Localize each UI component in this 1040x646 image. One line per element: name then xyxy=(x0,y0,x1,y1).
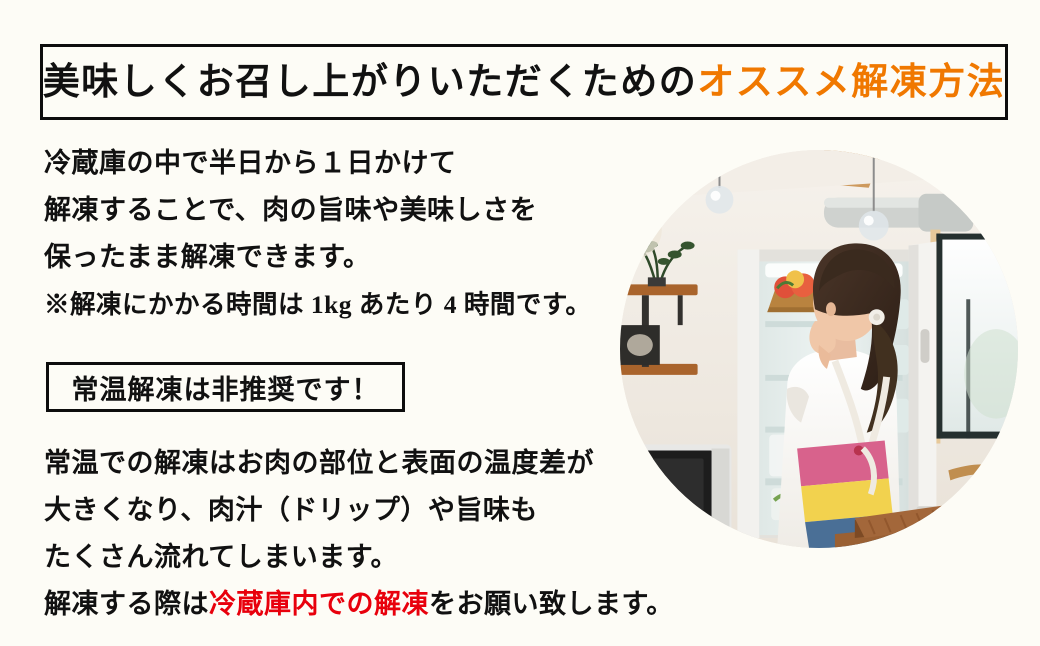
recommended-method-block: 冷蔵庫の中で半日から１日かけて 解凍することで、肉の旨味や美味しさを 保ったまま… xyxy=(44,140,624,328)
warning-box-label: 常温解凍は非推奨です！ xyxy=(72,368,380,407)
recommended-method-text: 冷蔵庫の中で半日から１日かけて 解凍することで、肉の旨味や美味しさを 保ったまま… xyxy=(44,140,624,328)
caution-line-1: 常温での解凍はお肉の部位と表面の温度差が xyxy=(44,440,704,487)
caution-final-prefix: 解凍する際は xyxy=(44,589,209,619)
caution-text: 常温での解凍はお肉の部位と表面の温度差が 大きくなり、肉汁（ドリップ）や旨味も … xyxy=(44,440,704,628)
page-title: 美味しくお召し上がりいただくためのオススメ解凍方法 xyxy=(43,64,1006,101)
recommended-line-1: 冷蔵庫の中で半日から１日かけて xyxy=(44,140,624,187)
caution-line-2: 大きくなり、肉汁（ドリップ）や旨味も xyxy=(44,487,704,534)
caution-block: 常温での解凍はお肉の部位と表面の温度差が 大きくなり、肉汁（ドリップ）や旨味も … xyxy=(44,440,704,628)
caution-final-emphasis: 冷蔵庫内での解凍 xyxy=(209,589,429,619)
recommended-line-2: 解凍することで、肉の旨味や美味しさを xyxy=(44,187,624,234)
refrigerator-photo-illustration xyxy=(620,150,1018,548)
page-title-accent: オススメ解凍方法 xyxy=(697,62,1005,103)
warning-box: 常温解凍は非推奨です！ xyxy=(46,362,405,412)
recommended-line-3: 保ったまま解凍できます。 xyxy=(44,234,624,281)
page-title-plain: 美味しくお召し上がりいただくための xyxy=(43,62,698,103)
caution-line-3: たくさん流れてしまいます。 xyxy=(44,534,704,581)
caution-final-line: 解凍する際は冷蔵庫内での解凍をお願い致します。 xyxy=(44,581,704,628)
refrigerator-photo xyxy=(620,150,1018,548)
poster-root: 美味しくお召し上がりいただくためのオススメ解凍方法 冷蔵庫の中で半日から１日かけ… xyxy=(0,0,1040,646)
caution-final-suffix: をお願い致します。 xyxy=(429,589,674,619)
page-title-box: 美味しくお召し上がりいただくためのオススメ解凍方法 xyxy=(40,44,1008,120)
recommended-note: ※解凍にかかる時間は 1kg あたり 4 時間です。 xyxy=(44,281,624,328)
